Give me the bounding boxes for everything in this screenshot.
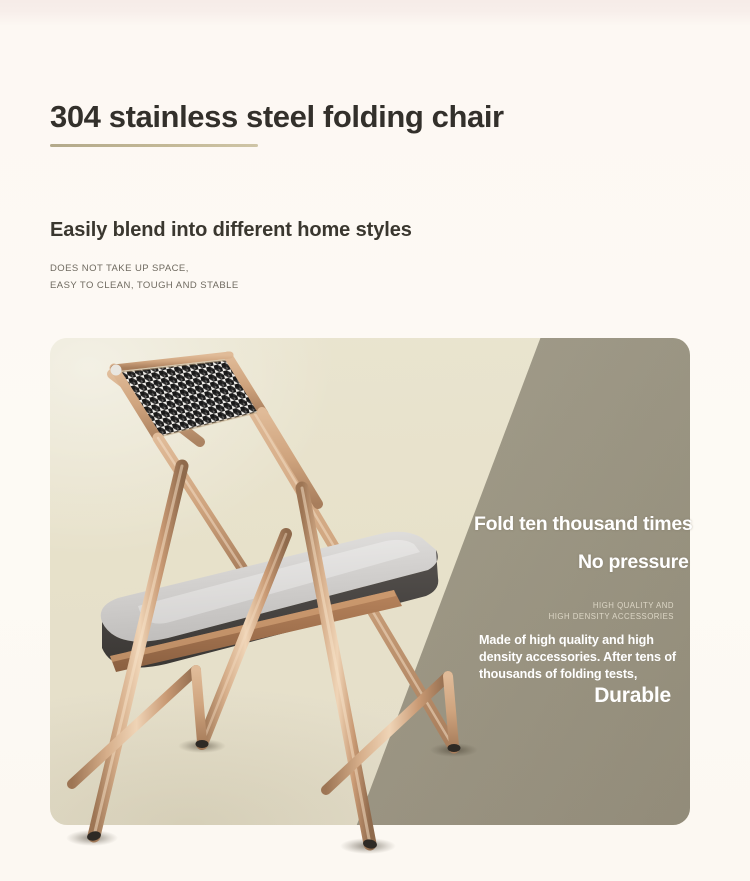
overlay-small-caption: HIGH QUALITY AND HIGH DENSITY ACCESSORIE… <box>479 600 674 622</box>
wall-highlight <box>50 338 434 630</box>
overlay-small-caption-line-2: HIGH DENSITY ACCESSORIES <box>479 611 674 622</box>
caption-block: DOES NOT TAKE UP SPACE, EASY TO CLEAN, T… <box>50 261 239 294</box>
page-title: 304 stainless steel folding chair <box>50 100 710 135</box>
product-photo <box>50 338 690 825</box>
overlay-headline-1: Fold ten thousand times <box>474 513 692 536</box>
caption-line-1: DOES NOT TAKE UP SPACE, <box>50 261 239 278</box>
caption-line-2: EASY TO CLEAN, TOUGH AND STABLE <box>50 278 239 295</box>
subtitle: Easily blend into different home styles <box>50 219 412 242</box>
overlay-small-caption-line-1: HIGH QUALITY AND <box>479 600 674 611</box>
overlay-durable-label: Durable <box>479 684 671 708</box>
title-underline <box>50 144 258 147</box>
photo-background <box>50 338 690 825</box>
overlay-body-text: Made of high quality and high density ac… <box>479 632 679 683</box>
marketing-page: 304 stainless steel folding chair Easily… <box>0 0 750 881</box>
header-block: 304 stainless steel folding chair <box>50 100 710 147</box>
overlay-headline-2: No pressure <box>578 551 689 574</box>
photo-clip <box>50 338 690 825</box>
